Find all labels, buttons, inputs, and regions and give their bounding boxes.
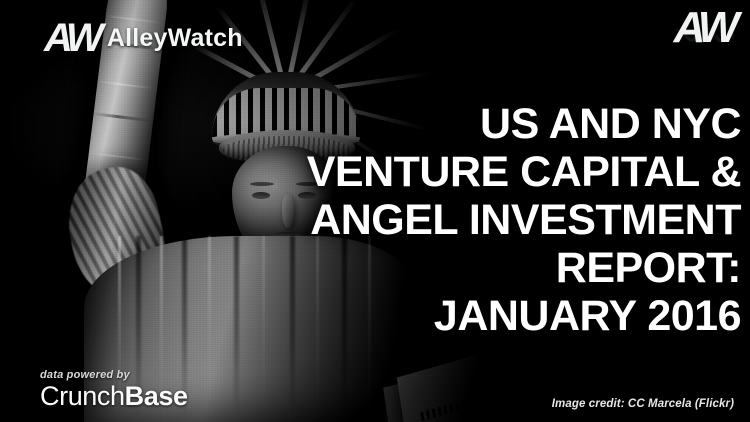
alleywatch-badge[interactable]: AW AW [674,6,734,88]
alleywatch-wordmark: AlleyWatch [107,26,243,51]
report-cover: AW AlleyWatch AW AW US AND NYC VENTURE C… [0,0,750,422]
alleywatch-badge-reflection: AW [674,24,734,44]
crunchbase-wordmark[interactable]: CrunchBase [40,381,188,411]
headline-line-4: REPORT: [141,244,741,292]
headline-line-3: ANGEL INVESTMENT [141,196,741,244]
page-title: US AND NYC VENTURE CAPITAL & ANGEL INVES… [141,100,741,340]
crunchbase-wordmark-part-two: Base [125,381,188,411]
headline-line-5: JANUARY 2016 [141,292,741,340]
image-credit: Image credit: CC Marcela (Flickr) [552,398,734,410]
alleywatch-aw-monogram-icon: AW [44,18,99,58]
alleywatch-brand-lockup[interactable]: AW AlleyWatch [44,18,243,58]
tablet-inscription [420,400,466,422]
data-credit: data powered by CrunchBase [40,369,188,410]
data-credit-label: data powered by [40,369,188,381]
headline-line-1: US AND NYC [141,100,741,148]
crunchbase-wordmark-part-one: Crunch [40,381,125,411]
headline-line-2: VENTURE CAPITAL & [141,148,741,196]
arm-highlight [89,152,149,161]
arm-highlight [97,80,157,89]
